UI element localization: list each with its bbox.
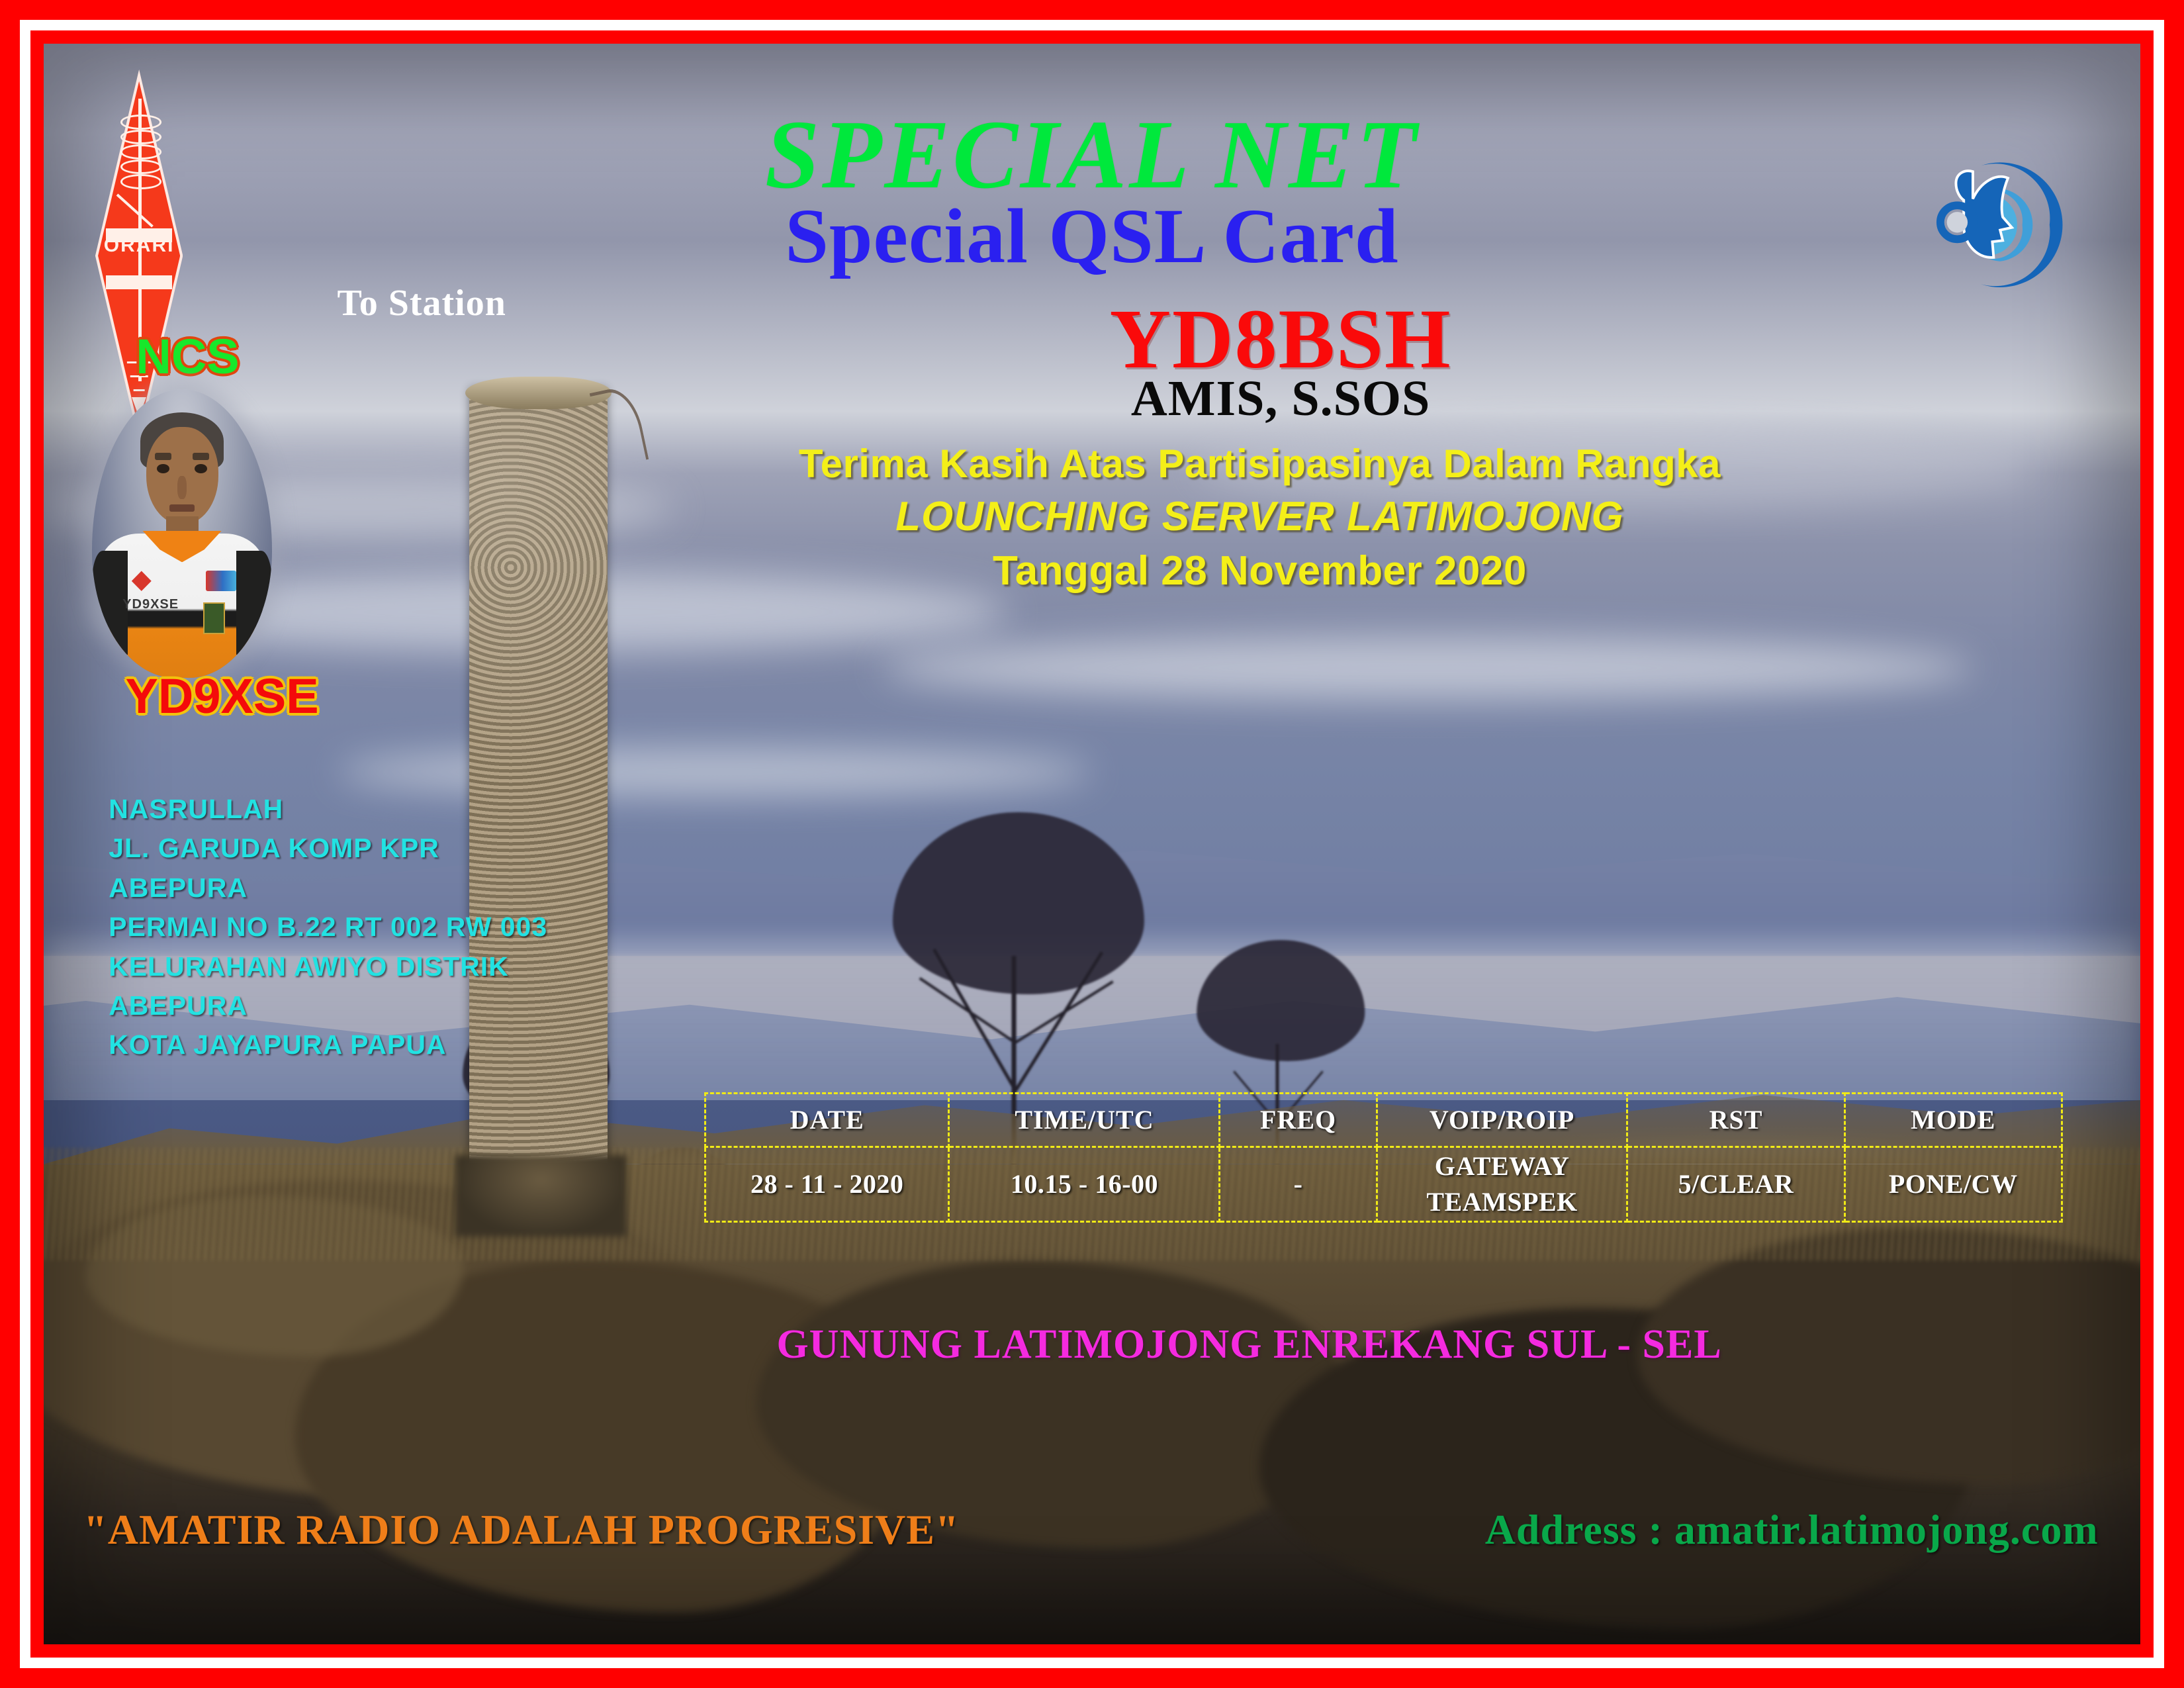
- orari-ground-bar: [134, 389, 145, 391]
- avatar-id-card: [203, 602, 226, 634]
- avatar-club-patch: [206, 571, 236, 590]
- address-line: NASRULLAH: [109, 790, 547, 829]
- qso-log-table: DATE TIME/UTC FREQ VOIP/ROIP RST MODE 28…: [704, 1092, 2063, 1223]
- footer-website-address: Address : amatir.latimojong.com: [1485, 1505, 2099, 1554]
- column-header-time: TIME/UTC: [949, 1093, 1220, 1147]
- page-subtitle: Special QSL Card: [44, 197, 2140, 275]
- address-line: KELURAHAN AWIYO DISTRIK: [109, 947, 547, 986]
- cell-voip-line1: GATEWAY: [1379, 1149, 1626, 1184]
- cell-date: 28 - 11 - 2020: [705, 1147, 949, 1221]
- address-line: KOTA JAYAPURA PAPUA: [109, 1025, 547, 1064]
- cell-freq: -: [1220, 1147, 1377, 1221]
- thanks-line-3: Tanggal 28 November 2020: [610, 544, 1909, 598]
- address-line: ABEPURA: [109, 868, 547, 908]
- thanks-block: Terima Kasih Atas Partisipasinya Dalam R…: [610, 438, 1909, 598]
- column-header-mode: MODE: [1844, 1093, 2062, 1147]
- column-header-voip: VOIP/ROIP: [1377, 1093, 1627, 1147]
- mailing-address: NASRULLAH JL. GARUDA KOMP KPR ABEPURA PE…: [109, 790, 547, 1065]
- card-photo-background: ORARI SPECIAL NET Special QSL Card To St…: [44, 44, 2140, 1644]
- location-text: GUNUNG LATIMOJONG ENREKANG SUL - SEL: [641, 1321, 1857, 1368]
- cell-mode: PONE/CW: [1844, 1147, 2062, 1221]
- cell-voip-line2: TEAMSPEK: [1379, 1184, 1626, 1220]
- column-header-date: DATE: [705, 1093, 949, 1147]
- table-row: 28 - 11 - 2020 10.15 - 16-00 - GATEWAY T…: [705, 1147, 2062, 1221]
- cell-voip: GATEWAY TEAMSPEK: [1377, 1147, 1627, 1221]
- avatar-eyebrow: [193, 453, 209, 460]
- address-line: PERMAI NO B.22 RT 002 RW 003: [109, 908, 547, 947]
- avatar-mouth: [169, 504, 195, 511]
- cell-time: 10.15 - 16-00: [949, 1147, 1220, 1221]
- avatar-sleeve-right: [236, 551, 272, 655]
- avatar-shirt-callsign: YD9XSE: [122, 597, 179, 612]
- address-line: ABEPURA: [109, 986, 547, 1025]
- orari-bar: [106, 275, 172, 289]
- ncs-label: NCS: [136, 328, 239, 385]
- thanks-line-2: LOUNCHING SERVER LATIMOJONG: [610, 490, 1909, 544]
- table-header-row: DATE TIME/UTC FREQ VOIP/ROIP RST MODE: [705, 1093, 2062, 1147]
- address-line: JL. GARUDA KOMP KPR: [109, 829, 547, 868]
- footer-slogan: "AMATIR RADIO ADALAH PROGRESIVE": [83, 1505, 959, 1554]
- column-header-rst: RST: [1627, 1093, 1844, 1147]
- column-header-freq: FREQ: [1220, 1093, 1377, 1147]
- to-station-label: To Station: [338, 282, 506, 324]
- avatar-eyebrow: [155, 453, 171, 460]
- operator-name: AMIS, S.SOS: [798, 373, 1762, 424]
- page-title: SPECIAL NET: [44, 106, 2140, 204]
- qsl-card: ORARI SPECIAL NET Special QSL Card To St…: [0, 0, 2184, 1688]
- ncs-callsign: YD9XSE: [126, 668, 319, 724]
- station-callsign: YD8BSH: [798, 297, 1762, 381]
- avatar-nose: [177, 476, 187, 499]
- cell-rst: 5/CLEAR: [1627, 1147, 1844, 1221]
- thanks-line-1: Terima Kasih Atas Partisipasinya Dalam R…: [610, 438, 1909, 490]
